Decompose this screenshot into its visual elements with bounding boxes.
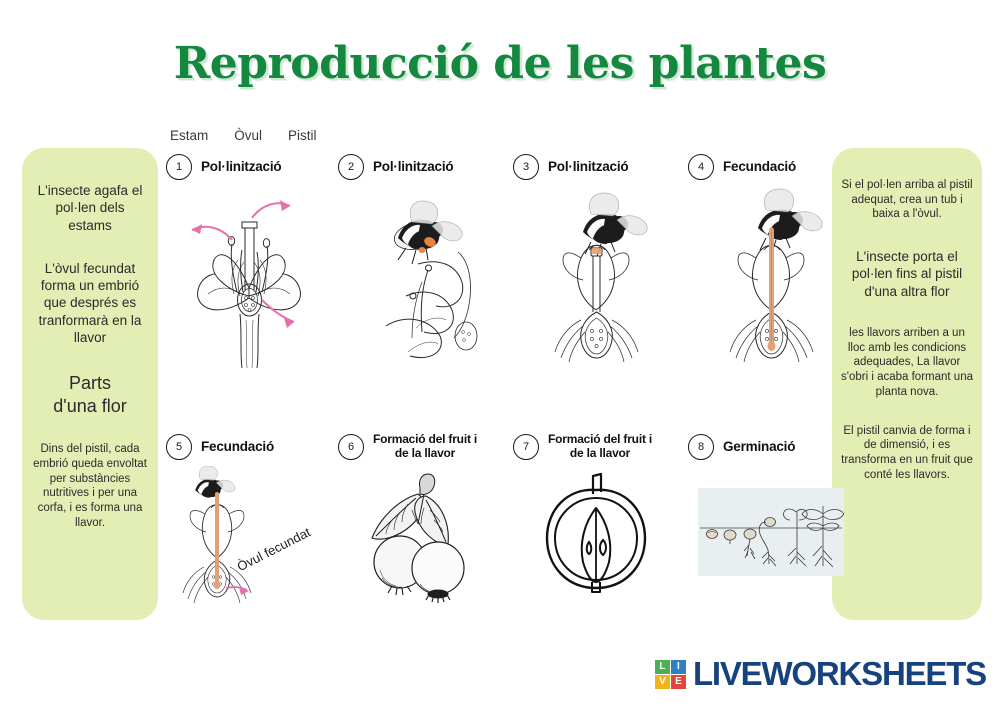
step-7-header: 7 Formació del fruit ide la llavor [513, 432, 679, 462]
step-4-header: 4 Fecundació [688, 152, 854, 182]
step-5-illustration [166, 466, 332, 616]
step-5-header: 5 Fecundació [166, 432, 332, 462]
step-2-header: 2 Pol·linització [338, 152, 504, 182]
right-text-block-2: L'insecte porta el pol·len fins al pisti… [841, 248, 973, 300]
step-5-badge: 5 [166, 434, 192, 460]
liveworksheets-logo: L I V E LIVEWORKSHEETS [655, 655, 986, 693]
step-7-title: Formació del fruit ide la llavor [548, 433, 652, 461]
step-7-illustration [513, 466, 679, 606]
step-6: 6 Formació del fruit ide la llavor [338, 432, 504, 606]
logo-tiles: L I V E [655, 660, 686, 689]
logo-tile-i: I [671, 660, 686, 674]
step-5: 5 Fecundació [166, 432, 332, 616]
step-8-title: Germinació [723, 439, 795, 455]
page-title: Reproducció de les plantes [0, 38, 1000, 89]
worksheet-page: Reproducció de les plantes Estam Òvul Pi… [0, 0, 1000, 707]
step-6-header: 6 Formació del fruit ide la llavor [338, 432, 504, 462]
step-4-badge: 4 [688, 154, 714, 180]
logo-tile-e: E [671, 675, 686, 689]
step-6-title: Formació del fruit ide la llavor [373, 433, 477, 461]
step-8-badge: 8 [688, 434, 714, 460]
logo-tile-l: L [655, 660, 670, 674]
step-3-title: Pol·linització [548, 159, 628, 175]
step-3-badge: 3 [513, 154, 539, 180]
step-7: 7 Formació del fruit ide la llavor [513, 432, 679, 606]
right-text-block-1: Si el pol·len arriba al pistil adequat, … [841, 178, 973, 222]
step-2: 2 Pol·linització [338, 152, 504, 371]
flower-part-labels: Estam Òvul Pistil [170, 128, 317, 143]
step-4: 4 Fecundació [688, 152, 854, 371]
part-label-estam: Estam [170, 128, 208, 143]
part-label-pistil: Pistil [288, 128, 317, 143]
step-2-title: Pol·linització [373, 159, 453, 175]
step-1-title: Pol·linització [201, 159, 281, 175]
step-1-header: 1 Pol·linització [166, 152, 332, 182]
step-4-title: Fecundació [723, 159, 796, 175]
pollen-tube [214, 494, 221, 589]
sidebar-left: L'insecte agafa el pol·len dels estams L… [22, 148, 158, 620]
step-8-header: 8 Germinació [688, 432, 854, 462]
logo-wordmark: LIVEWORKSHEETS [693, 655, 986, 693]
sidebar-right: Si el pol·len arriba al pistil adequat, … [832, 148, 982, 620]
left-heading-parts: Partsd'una flor [53, 372, 127, 418]
step-3: 3 Pol·linització [513, 152, 679, 371]
step-2-badge: 2 [338, 154, 364, 180]
step-3-illustration [513, 186, 679, 371]
right-text-block-4: El pistil canvia de forma i de dimensió,… [841, 424, 973, 483]
left-text-block-4: Dins del pistil, cada embrió queda envol… [32, 442, 148, 530]
step-6-badge: 6 [338, 434, 364, 460]
left-text-block-2: L'òvul fecundat forma un embrió que desp… [32, 260, 148, 346]
right-text-block-3: les llavors arriben a un lloc amb les co… [841, 326, 973, 400]
pollen-tube [768, 230, 776, 351]
left-text-block-1: L'insecte agafa el pol·len dels estams [32, 182, 148, 234]
step-6-illustration [338, 466, 504, 606]
steps-grid: 1 Pol·linització [166, 152, 834, 622]
step-2-illustration [338, 186, 504, 371]
step-8-illustration [688, 488, 854, 576]
step-1-badge: 1 [166, 154, 192, 180]
step-1-illustration [166, 186, 332, 371]
part-label-ovul: Òvul [234, 128, 262, 143]
step-4-illustration [688, 186, 854, 371]
step-7-badge: 7 [513, 434, 539, 460]
step-8: 8 Germinació [688, 432, 854, 576]
step-3-header: 3 Pol·linització [513, 152, 679, 182]
step-1: 1 Pol·linització [166, 152, 332, 371]
step-5-title: Fecundació [201, 439, 274, 455]
logo-tile-v: V [655, 675, 670, 689]
